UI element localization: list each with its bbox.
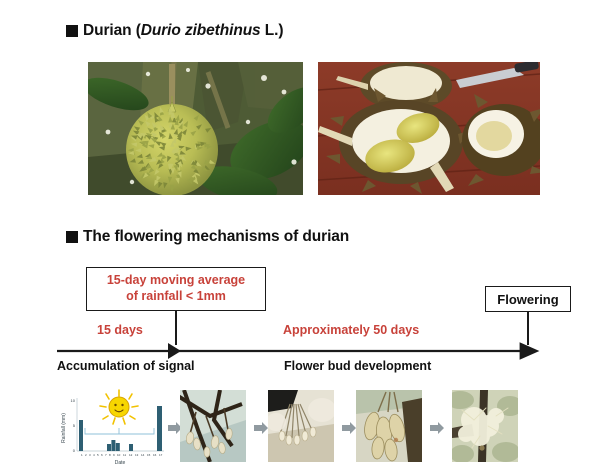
- section-title-flowering-mechanisms: The flowering mechanisms of durian: [66, 228, 349, 246]
- flower-buds-photo: [180, 390, 246, 462]
- flowering-mechanism-diagram: 15-day moving average of rainfall < 1mm …: [0, 255, 601, 390]
- svg-text:11: 11: [123, 453, 126, 457]
- heading-durian-species: Durio zibethinus: [141, 22, 261, 39]
- label-approximately-fifty-days: Approximately 50 days: [283, 323, 419, 337]
- svg-text:12: 12: [129, 453, 133, 457]
- heading-durian-text: Durian (Durio zibethinus L.): [83, 22, 283, 40]
- rainfall-box-connector-line: [175, 311, 177, 345]
- rainfall-condition-line1: 15-day moving average: [107, 273, 245, 289]
- flowering-box: Flowering: [485, 286, 571, 312]
- label-accumulation-of-signal: Accumulation of signal: [57, 359, 195, 373]
- flowering-box-label: Flowering: [497, 292, 558, 307]
- svg-text:17: 17: [159, 453, 163, 457]
- heading-durian-lead: Durian (: [83, 22, 141, 39]
- svg-text:10: 10: [117, 453, 121, 457]
- progression-arrow-icon: [254, 421, 268, 439]
- progression-arrow-icon: [430, 421, 444, 439]
- svg-text:13: 13: [135, 453, 139, 457]
- mature-flower-buds-photo: [356, 390, 422, 462]
- chart-ylabel: Rainfall (mm): [61, 413, 67, 443]
- flowering-box-connector-line: [527, 312, 529, 345]
- early-flower-bud-cluster-photo: [268, 390, 334, 462]
- progression-arrow-icon: [342, 421, 356, 439]
- durian-tree-photo: [88, 62, 303, 195]
- page-title-durian: Durian (Durio zibethinus L.): [66, 22, 283, 40]
- durian-open-photo: [318, 62, 540, 195]
- heading-durian-tail: L.): [261, 22, 284, 39]
- label-fifteen-days: 15 days: [97, 323, 143, 337]
- rainfall-condition-box: 15-day moving average of rainfall < 1mm: [86, 267, 266, 311]
- heading-mechanism-text: The flowering mechanisms of durian: [83, 228, 349, 246]
- svg-text:15: 15: [147, 453, 151, 457]
- chart-ytick-10: 10: [71, 398, 76, 403]
- flowering-progression-strip: Rainfall (mm) 10 5 0: [0, 388, 601, 472]
- durian-flowers-in-bloom-photo: [452, 390, 518, 462]
- black-square-bullet-icon: [66, 231, 78, 243]
- chart-xlabel: Date: [115, 460, 126, 466]
- svg-text:14: 14: [141, 453, 145, 457]
- svg-text:16: 16: [153, 453, 157, 457]
- black-square-bullet-icon: [66, 25, 78, 37]
- label-flower-bud-development: Flower bud development: [284, 359, 431, 373]
- rainfall-condition-line2: of rainfall < 1mm: [126, 289, 226, 305]
- rainfall-chart: Rainfall (mm) 10 5 0: [58, 388, 168, 468]
